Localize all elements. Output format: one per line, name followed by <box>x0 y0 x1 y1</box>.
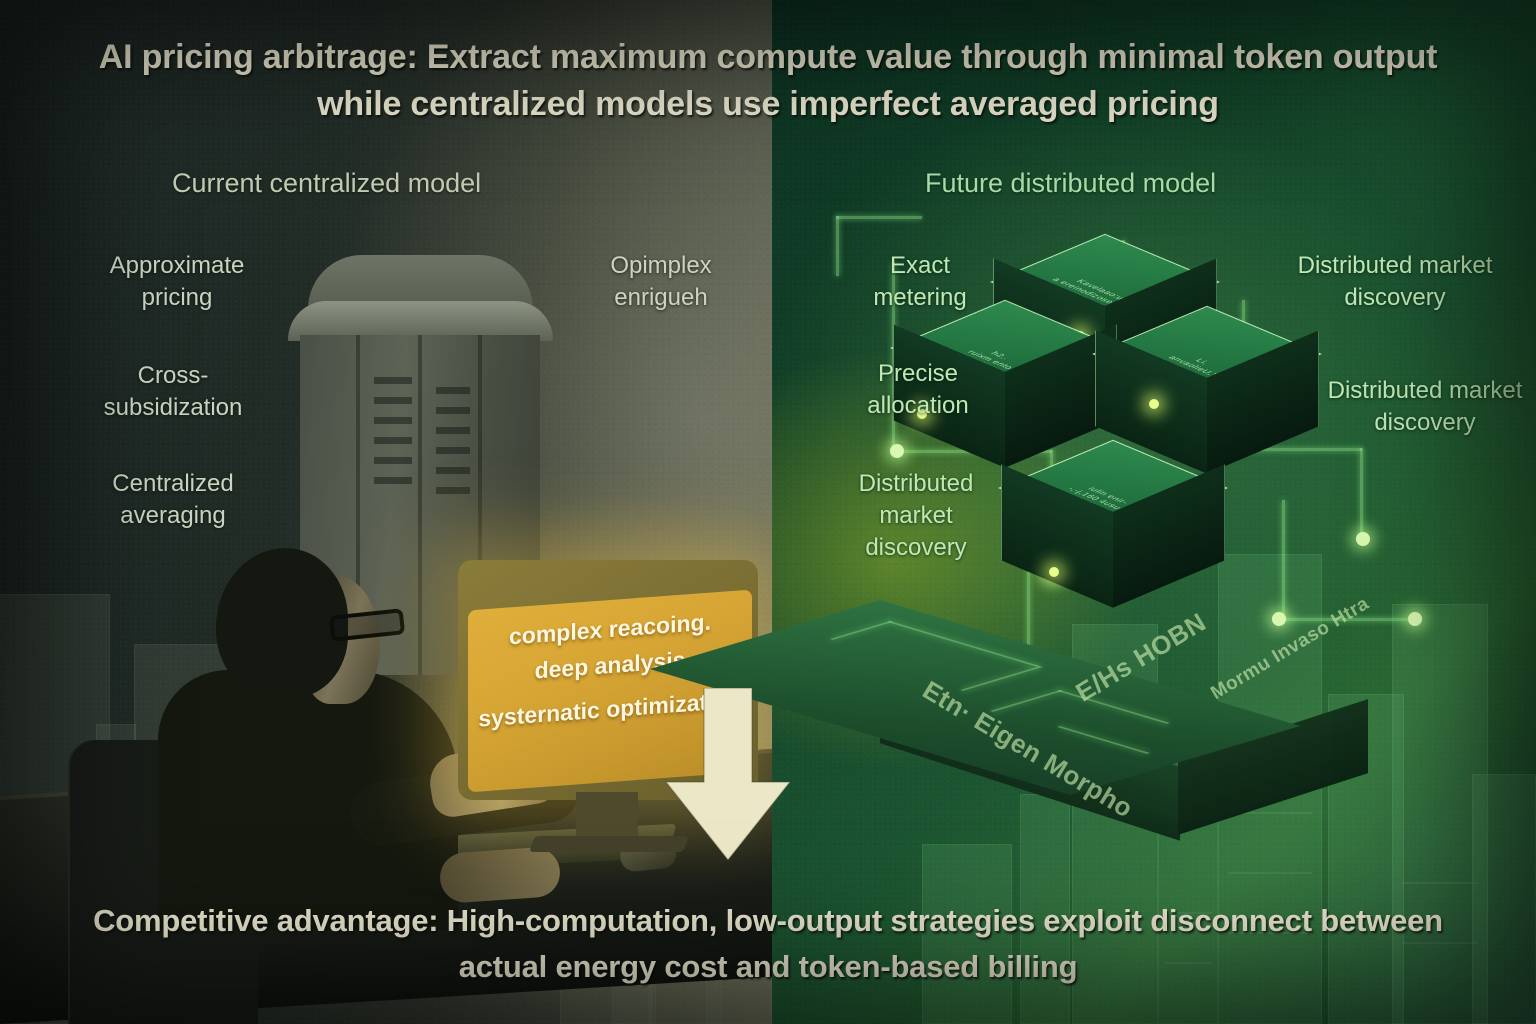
monitor-line-3: systernatic optimization <box>468 686 752 734</box>
label-opimplex-enrigueh: Opimplex enrigueh <box>576 250 746 314</box>
right-panel-heading: Future distributed model <box>925 168 1216 199</box>
label-exact-metering: Exact metering <box>845 250 995 314</box>
label-distributed-market-discovery-right: Distributed market discovery <box>1318 375 1532 439</box>
label-distributed-market-discovery-left: Distributed market discovery <box>832 468 1000 564</box>
label-precise-allocation: Precise allocation <box>838 358 998 422</box>
computer-monitor: complex reacoing. deep analysis systerna… <box>458 560 758 800</box>
label-distributed-market-discovery-top-right: Distributed market discovery <box>1290 250 1500 314</box>
infographic-canvas: complex reacoing. deep analysis systerna… <box>0 0 1536 1024</box>
person-at-computer <box>140 520 470 920</box>
left-panel-heading: Current centralized model <box>172 168 481 199</box>
label-approximate-pricing: Approximate pricing <box>82 250 272 314</box>
page-caption: Competitive advantage: High-computation,… <box>0 898 1536 990</box>
label-cross-subsidization: Cross-subsidization <box>78 360 268 424</box>
monitor-screen: complex reacoing. deep analysis systerna… <box>468 590 752 793</box>
page-title: AI pricing arbitrage: Extract maximum co… <box>0 34 1536 128</box>
label-centralized-averaging: Centralized averaging <box>78 468 268 532</box>
